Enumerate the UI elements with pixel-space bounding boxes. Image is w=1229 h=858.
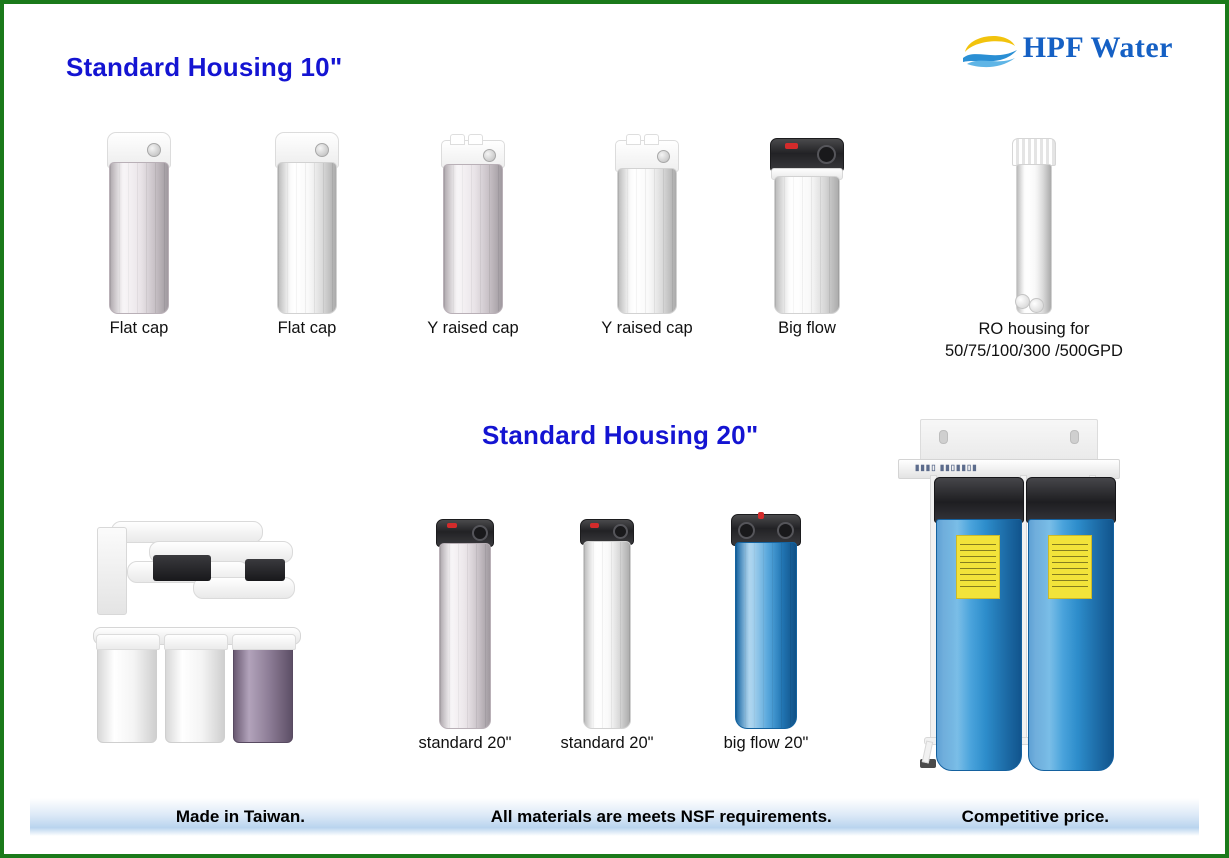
housing-cap: [934, 477, 1024, 523]
cartridge-housing: [165, 645, 225, 743]
port-icon: [777, 522, 794, 539]
product-caption: standard 20": [544, 733, 670, 754]
port-icon: [613, 524, 628, 539]
product-caption: Y raised cap: [584, 318, 710, 339]
port-icon: [483, 149, 496, 162]
product-caption: RO housing for 50/75/100/300 /500GPD: [909, 318, 1159, 362]
port-icon: [1015, 294, 1030, 309]
product-catalog-slide: HPF Water Standard Housing 10" Flat cap: [0, 0, 1229, 858]
port-icon: [472, 525, 488, 541]
product-caption: Big flow: [744, 318, 870, 339]
knob-icon: [644, 134, 659, 145]
port-icon: [738, 522, 755, 539]
filter-housing-clear-20-icon: [402, 519, 528, 727]
housing-cap: [1026, 477, 1116, 523]
product-flat-cap-white: Flat cap: [244, 132, 370, 339]
cartridge-housing: [233, 645, 293, 743]
product-big-flow-20-blue: big flow 20": [699, 514, 833, 754]
mounting-bracket: [97, 519, 297, 637]
footer-bar: Made in Taiwan. All materials are meets …: [30, 798, 1199, 836]
product-caption: Flat cap: [244, 318, 370, 339]
filter-housing-clear-yraisedcap-icon: [410, 132, 536, 312]
port-icon: [817, 145, 836, 164]
footer-item-nsf: All materials are meets NSF requirements…: [451, 807, 872, 827]
knob-icon: [626, 134, 641, 145]
product-caption: Flat cap: [76, 318, 202, 339]
warning-label: [1048, 535, 1092, 599]
knob-icon: [468, 134, 483, 145]
brand-name: HPF Water: [1023, 31, 1173, 65]
product-flat-cap-clear: Flat cap: [76, 132, 202, 339]
product-big-flow: Big flow: [744, 132, 870, 339]
filter-housing-blue-bigflow-20-icon: [699, 514, 833, 727]
filter-housing-white-yraisedcap-icon: [584, 132, 710, 312]
pressure-release-button-icon: [447, 523, 457, 528]
product-ro-housing: RO housing for 50/75/100/300 /500GPD: [909, 132, 1159, 362]
footer-item-made-in-taiwan: Made in Taiwan.: [30, 807, 451, 827]
pressure-release-button-icon: [785, 143, 798, 149]
filter-housing-bigflow-icon: [744, 132, 870, 312]
filter-housing-clear-flatcap-icon: [76, 132, 202, 312]
cartridge-housing: [97, 645, 157, 743]
section-title-10: Standard Housing 10": [66, 52, 342, 83]
port-icon: [657, 150, 670, 163]
section-title-20: Standard Housing 20": [482, 420, 758, 451]
product-standard-20-clear: standard 20": [402, 519, 528, 754]
sun-wave-icon: [961, 28, 1019, 68]
port-icon: [315, 143, 329, 157]
port-icon: [147, 143, 161, 157]
filter-housing-white-20-icon: [544, 519, 670, 727]
product-standard-20-white: standard 20": [544, 519, 670, 754]
port-icon: [1029, 298, 1044, 313]
product-y-raised-cap-white: Y raised cap: [584, 132, 710, 339]
ro-system-assembly-icon: [89, 519, 304, 744]
footer-item-price: Competitive price.: [872, 807, 1199, 827]
product-caption: standard 20": [402, 733, 528, 754]
product-ro-system: [89, 519, 304, 744]
brand-logo: HPF Water: [961, 28, 1173, 68]
ro-membrane-housing-icon: [909, 132, 1159, 312]
manifold-marking: ▮▮▮▯ ▮▮▯▮▮▯▮: [915, 463, 978, 472]
filter-housing-white-flatcap-icon: [244, 132, 370, 312]
pressure-release-button-icon: [758, 512, 764, 519]
warning-label: [956, 535, 1000, 599]
product-caption: big flow 20": [699, 733, 833, 754]
twin-big-blue-housing-stand-icon: ▮▮▮▯ ▮▮▯▮▮▯▮: [894, 419, 1122, 777]
pressure-release-button-icon: [590, 523, 599, 528]
product-y-raised-cap-clear: Y raised cap: [410, 132, 536, 339]
product-caption: Y raised cap: [410, 318, 536, 339]
knob-icon: [450, 134, 465, 145]
product-twin-big-blue-system: ▮▮▮▯ ▮▮▯▮▮▯▮: [894, 419, 1122, 777]
